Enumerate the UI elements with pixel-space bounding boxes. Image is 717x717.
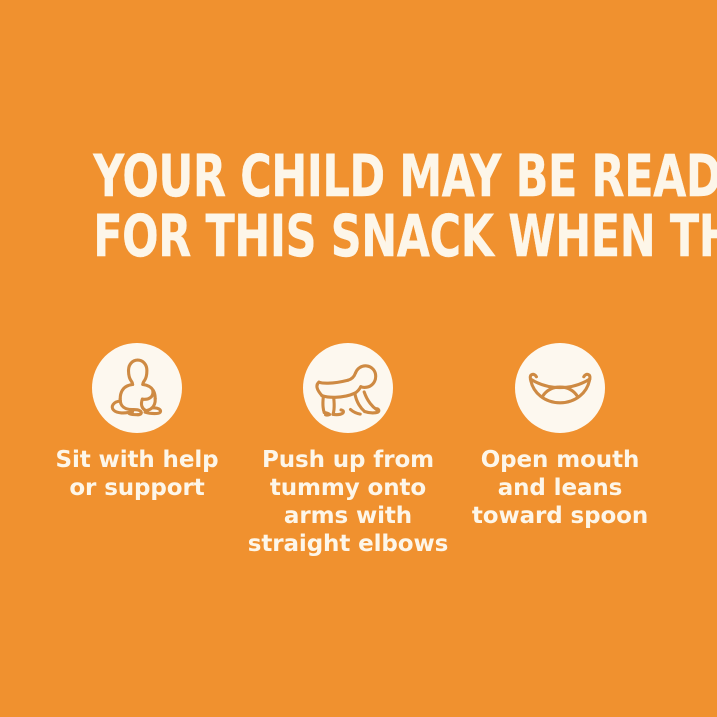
baby-tummy-time-icon: [303, 343, 393, 433]
caption-line: tummy onto: [239, 474, 457, 502]
headline-line-2: FOR THIS SNACK WHEN THEY:: [93, 206, 624, 266]
readiness-captions: Sit with help or support Push up from tu…: [0, 446, 717, 576]
caption-line: or support: [28, 474, 246, 502]
caption-line: toward spoon: [451, 502, 669, 530]
caption-sit: Sit with help or support: [28, 446, 246, 502]
caption-open-mouth: Open mouth and leans toward spoon: [451, 446, 669, 530]
readiness-icon-row: [0, 343, 717, 443]
headline-line-1: YOUR CHILD MAY BE READY: [93, 146, 624, 206]
caption-push-up: Push up from tummy onto arms with straig…: [239, 446, 457, 558]
caption-line: Sit with help: [28, 446, 246, 474]
caption-line: arms with: [239, 502, 457, 530]
readiness-item-open-mouth: [455, 343, 665, 433]
caption-line: Open mouth: [451, 446, 669, 474]
readiness-item-push-up: [243, 343, 453, 433]
caption-line: and leans: [451, 474, 669, 502]
caption-line: straight elbows: [239, 530, 457, 558]
open-mouth-icon: [515, 343, 605, 433]
baby-sitting-icon: [92, 343, 182, 433]
readiness-item-sit: [32, 343, 242, 433]
page-title: YOUR CHILD MAY BE READY FOR THIS SNACK W…: [0, 146, 717, 266]
caption-line: Push up from: [239, 446, 457, 474]
readiness-poster: YOUR CHILD MAY BE READY FOR THIS SNACK W…: [0, 0, 717, 717]
